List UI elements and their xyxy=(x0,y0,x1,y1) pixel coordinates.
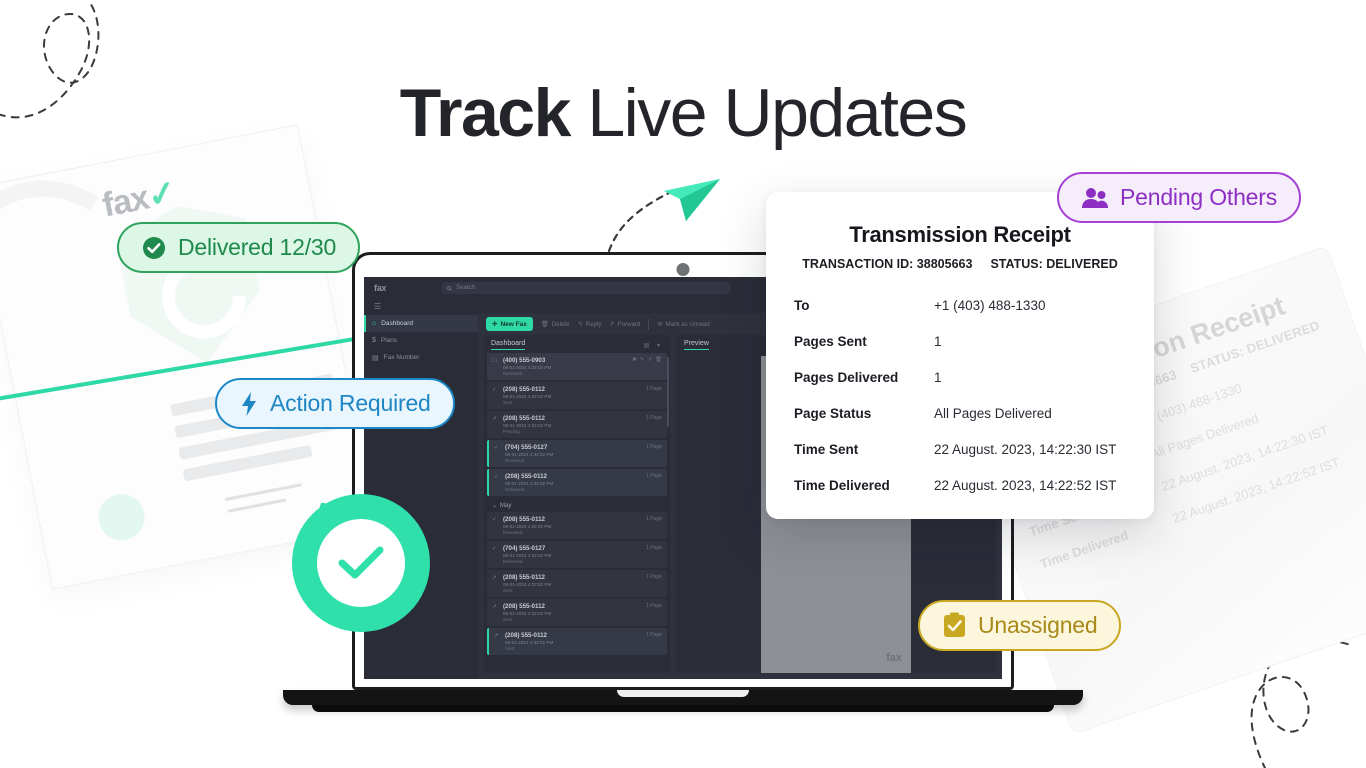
status-badge-delivered[interactable]: Delivered 12/30 xyxy=(117,222,360,273)
receipt-row-key: Pages Sent xyxy=(794,334,934,349)
fax-tag: Received xyxy=(503,371,628,376)
check-circle-icon xyxy=(141,235,167,261)
status-badge-label: Delivered 12/30 xyxy=(178,234,336,261)
list-item[interactable]: ↗ (208) 555-0112 08-01-2024 4:32:02 PM P… xyxy=(487,411,667,438)
receipt-row-value: 22 August. 2023, 14:22:30 IST xyxy=(934,442,1116,457)
fax-time: 08-01-2024 4:32:02 PM xyxy=(503,611,642,616)
fax-time: 08-01-2024 4:32:02 PM xyxy=(503,423,642,428)
laptop-foot xyxy=(312,705,1054,712)
list-item[interactable]: ✓ (208) 555-0112 08-01-2024 4:32:02 PM D… xyxy=(487,469,667,496)
fax-pages: 1 Page xyxy=(646,516,662,535)
fax-time: 08-01-2024 4:32:02 PM xyxy=(505,640,642,645)
fax-number: (208) 555-0112 xyxy=(505,473,642,480)
status-badge-label: Pending Others xyxy=(1120,184,1277,211)
list-item[interactable]: ↗ (208) 555-0112 08-01-2024 4:32:02 PM S… xyxy=(487,628,667,655)
fax-list-header: Dashboard ▤ ▾ xyxy=(484,335,670,353)
list-item[interactable]: ↗ (208) 555-0112 08-01-2024 4:32:02 PM S… xyxy=(487,570,667,597)
list-scrollbar[interactable] xyxy=(667,357,669,427)
group-label: May xyxy=(500,503,511,509)
doc-watermark-logo: fax xyxy=(886,650,902,667)
status-badge-label: Unassigned xyxy=(978,612,1097,639)
decor-dot xyxy=(95,490,149,544)
receipt-subtitle: TRANSACTION ID: 38805663STATUS: DELIVERE… xyxy=(794,257,1126,271)
list-item[interactable]: ✓ (704) 555-0127 08-01-2024 4:32:02 PM R… xyxy=(487,440,667,467)
fax-number: (208) 555-0112 xyxy=(503,574,642,581)
forward-icon: ↱ xyxy=(610,321,615,328)
mark-unread-button[interactable]: ✉ Mark as Unread xyxy=(657,321,709,328)
fax-pages: 1 Page xyxy=(646,574,662,593)
mark-unread-label: Mark as Unread xyxy=(666,321,710,328)
fax-tag: Pending xyxy=(503,429,642,434)
fax-pages: 1 Page xyxy=(646,386,662,405)
fax-number: (208) 555-0112 xyxy=(503,603,642,610)
receipt-row: Time Delivered 22 August. 2023, 14:22:52… xyxy=(794,478,1126,493)
fax-pages: 1 Page xyxy=(646,473,662,492)
fax-tag: Sent xyxy=(503,588,642,593)
fax-group-header[interactable]: ⌄ May xyxy=(487,498,667,512)
fax-time: 08-01-2024 4:32:02 PM xyxy=(503,524,642,529)
trash-icon: 🗑 xyxy=(541,320,549,328)
fax-tag: Delivered xyxy=(505,487,642,492)
fax-number: (704) 555-0127 xyxy=(503,545,642,552)
fax-tag: Sent xyxy=(505,646,642,651)
fax-pages: 1 Page xyxy=(646,545,662,564)
hero-stage: fax✓ Transmission Receipt TRANSACTION ID… xyxy=(0,0,1366,768)
edit-icon[interactable]: ✎ xyxy=(640,357,645,376)
sidebar-item-dashboard[interactable]: ⌂ Dashboard xyxy=(364,315,478,332)
fax-list-title: Dashboard xyxy=(491,340,525,350)
fax-tag: Delivered xyxy=(503,559,642,564)
status-badge-label: Action Required xyxy=(270,390,431,417)
receipt-row-value: 1 xyxy=(934,334,942,349)
receipt-row-value: 22 August. 2023, 14:22:52 IST xyxy=(934,478,1116,493)
receipt-title: Transmission Receipt xyxy=(794,222,1126,248)
list-item[interactable]: ☐ (400) 555-0903 08-01-2024 4:32:02 PM R… xyxy=(487,353,667,380)
arrow-icon: ↗ xyxy=(492,415,499,434)
success-check-inner xyxy=(317,519,405,607)
paper-plane-icon xyxy=(660,165,724,223)
receipt-row-key: Page Status xyxy=(794,406,934,421)
fax-tag: Received xyxy=(505,458,642,463)
page-title-rest: Live Updates xyxy=(570,75,966,151)
list-item[interactable]: ✓ (208) 555-0112 08-01-2024 4:32:02 PM S… xyxy=(487,382,667,409)
delete-button[interactable]: 🗑 Delete xyxy=(541,320,570,328)
fax-tag: Sent xyxy=(503,400,642,405)
dollar-icon: $ xyxy=(372,337,376,344)
plus-icon: ✛ xyxy=(492,320,497,328)
app-logo: fax xyxy=(374,283,386,293)
laptop-camera-icon xyxy=(677,263,690,276)
status-badge-pending-others[interactable]: Pending Others xyxy=(1057,172,1301,223)
list-view-options-icon[interactable]: ▤ ▾ xyxy=(644,342,663,349)
receipt-transaction-id: TRANSACTION ID: 38805663 xyxy=(802,257,972,271)
arrow-icon: ↗ xyxy=(494,632,501,651)
share-icon[interactable]: ↗ xyxy=(647,357,652,376)
receipt-row-key: Pages Delivered xyxy=(794,370,934,385)
receipt-row: Time Sent 22 August. 2023, 14:22:30 IST xyxy=(794,442,1126,457)
sidebar-item-label: Fax Number xyxy=(384,354,420,361)
fax-tag: Sent xyxy=(503,617,642,622)
sidebar-item-label: Dashboard xyxy=(381,320,413,327)
receipt-row-value: +1 (403) 488-1330 xyxy=(934,298,1045,313)
new-fax-button[interactable]: ✛ New Fax xyxy=(486,317,533,331)
delete-label: Delete xyxy=(552,321,570,328)
fax-list-pane: Dashboard ▤ ▾ ☐ (400) 555-0903 xyxy=(484,335,670,673)
row-action-icons[interactable]: ✖ ✎ ↗ 🗑 xyxy=(632,357,662,376)
reply-icon: ↰ xyxy=(578,321,583,328)
check-icon: ✓ xyxy=(492,516,499,535)
chevron-down-icon: ⌄ xyxy=(492,502,497,509)
fax-pages: 1 Page xyxy=(646,632,662,651)
link-icon[interactable]: ✖ xyxy=(632,357,637,376)
page-title: Track Live Updates xyxy=(0,78,1366,149)
receipt-rows: To +1 (403) 488-1330 Pages Sent 1 Pages … xyxy=(794,298,1126,493)
list-item[interactable]: ↗ (208) 555-0112 08-01-2024 4:32:02 PM S… xyxy=(487,599,667,626)
check-icon: ✓ xyxy=(492,545,499,564)
check-icon: ✓ xyxy=(494,444,501,463)
sidebar-item-fax-number[interactable]: ▤ Fax Number xyxy=(364,349,478,366)
laptop-base xyxy=(283,690,1083,705)
success-check-badge xyxy=(292,494,430,632)
check-icon xyxy=(337,544,385,582)
sidebar-item-plans[interactable]: $ Plans xyxy=(364,332,478,349)
fax-number: (400) 555-0903 xyxy=(503,357,628,364)
shield-watermark-icon xyxy=(111,193,271,375)
fax-list-scroll[interactable]: ☐ (400) 555-0903 08-01-2024 4:32:02 PM R… xyxy=(484,353,670,673)
fax-pages: 1 Page xyxy=(646,603,662,622)
fax-time: 08-01-2024 4:32:02 PM xyxy=(505,452,642,457)
fax-number: (704) 555-0127 xyxy=(505,444,642,451)
people-icon xyxy=(1081,186,1109,210)
mail-icon: ✉ xyxy=(657,321,662,328)
arrow-icon: ↗ xyxy=(492,574,499,593)
fax-number: (208) 555-0112 xyxy=(503,386,642,393)
fax-time: 08-01-2024 4:32:02 PM xyxy=(503,394,642,399)
receipt-row-key: To xyxy=(794,298,934,313)
ghost-row-value: 22 August. 2023, 14:22:52 IST xyxy=(1170,455,1341,526)
clipboard-check-icon xyxy=(942,612,967,639)
check-icon: ✓ xyxy=(494,473,501,492)
fax-pages: 1 Page xyxy=(646,444,662,463)
search-placeholder: Search xyxy=(456,285,475,291)
fax-number: (208) 555-0112 xyxy=(503,516,642,523)
receipt-status: STATUS: DELIVERED xyxy=(990,257,1117,271)
trash-icon[interactable]: 🗑 xyxy=(655,357,662,376)
search-icon xyxy=(447,286,452,291)
forward-label: Forward xyxy=(618,321,641,328)
decor-line xyxy=(227,498,286,512)
fax-time: 08-01-2024 4:32:02 PM xyxy=(503,582,642,587)
reply-label: Reply xyxy=(586,321,602,328)
receipt-row-key: Time Sent xyxy=(794,442,934,457)
list-item[interactable]: ✓ (704) 555-0127 08-01-2024 4:32:02 PM D… xyxy=(487,541,667,568)
fax-tag: Received xyxy=(503,530,642,535)
fax-time: 08-01-2024 4:32:02 PM xyxy=(505,481,642,486)
status-badge-action-required[interactable]: Action Required xyxy=(215,378,455,429)
fax-time: 08-01-2024 4:32:02 PM xyxy=(503,553,642,558)
toolbar-divider xyxy=(648,319,649,330)
forward-button[interactable]: ↱ Forward xyxy=(610,321,641,328)
reply-button[interactable]: ↰ Reply xyxy=(578,321,602,328)
fax-number: (208) 555-0112 xyxy=(503,415,642,422)
status-badge-unassigned[interactable]: Unassigned xyxy=(918,600,1121,651)
search-input[interactable]: Search xyxy=(442,282,730,294)
fax-time: 08-01-2024 4:32:02 PM xyxy=(503,365,628,370)
fax-number: (208) 555-0112 xyxy=(505,632,642,639)
page-title-bold: Track xyxy=(400,75,570,151)
fax-pages: 1 Page xyxy=(646,415,662,434)
list-item[interactable]: ✓ (208) 555-0112 08-01-2024 4:32:02 PM R… xyxy=(487,512,667,539)
receipt-row-value: 1 xyxy=(934,370,942,385)
receipt-row-value: All Pages Delivered xyxy=(934,406,1052,421)
check-icon: ✓ xyxy=(492,386,499,405)
arrow-icon: ↗ xyxy=(492,603,499,622)
ghost-row-value: 22 August. 2023, 14:22:30 IST xyxy=(1159,422,1330,493)
preview-title: Preview xyxy=(684,340,709,350)
new-fax-label: New Fax xyxy=(500,321,526,328)
receipt-row-key: Time Delivered xyxy=(794,478,934,493)
lightning-bolt-icon xyxy=(239,391,259,417)
transmission-receipt-card: Transmission Receipt TRANSACTION ID: 388… xyxy=(766,192,1154,519)
receipt-row: Page Status All Pages Delivered xyxy=(794,406,1126,421)
checkbox-icon[interactable]: ☐ xyxy=(492,357,499,376)
receipt-row: To +1 (403) 488-1330 xyxy=(794,298,1126,313)
building-icon: ▤ xyxy=(372,354,379,362)
receipt-row: Pages Sent 1 xyxy=(794,334,1126,349)
receipt-row: Pages Delivered 1 xyxy=(794,370,1126,385)
home-icon: ⌂ xyxy=(372,320,376,327)
sidebar-item-label: Plans xyxy=(381,337,397,344)
